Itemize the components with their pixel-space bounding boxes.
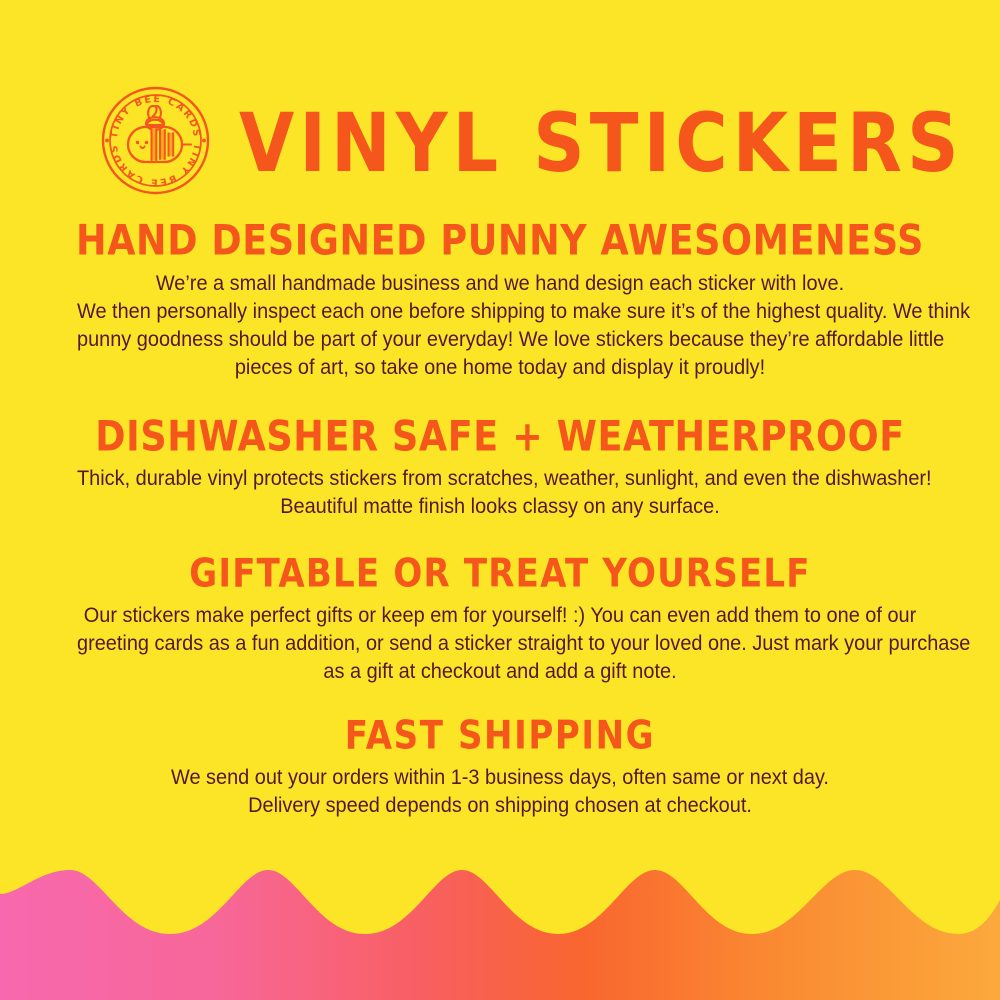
body-line: punny goodness should be part of your ev… bbox=[77, 326, 923, 354]
body-line: Thick, durable vinyl protects stickers f… bbox=[77, 465, 923, 493]
section-body: Thick, durable vinyl protects stickers f… bbox=[77, 465, 923, 521]
section-body: We’re a small handmade business and we h… bbox=[77, 270, 923, 382]
body-line: We send out your orders within 1-3 busin… bbox=[77, 764, 923, 792]
body-line: Delivery speed depends on shipping chose… bbox=[77, 792, 923, 820]
body-line: Beautiful matte finish looks classy on a… bbox=[77, 493, 923, 521]
sections-container: HAND DESIGNED PUNNY AWESOMENESS We’re a … bbox=[0, 222, 1000, 820]
section-body: We send out your orders within 1-3 busin… bbox=[77, 764, 923, 820]
sticker-info-graphic: TINY BEE CARDS TINY BEE CARDS bbox=[0, 0, 1000, 1000]
body-line: as a gift at checkout and add a gift not… bbox=[77, 658, 923, 686]
body-line: We then personally inspect each one befo… bbox=[77, 298, 923, 326]
section-heading: DISHWASHER SAFE + WEATHERPROOF bbox=[0, 415, 1000, 458]
bee-badge-icon: TINY BEE CARDS TINY BEE CARDS bbox=[95, 80, 216, 201]
section-dishwasher-safe: DISHWASHER SAFE + WEATHERPROOF Thick, du… bbox=[0, 418, 1000, 522]
section-body: Our stickers make perfect gifts or keep … bbox=[77, 602, 923, 686]
body-line: We’re a small handmade business and we h… bbox=[77, 270, 923, 298]
section-heading: HAND DESIGNED PUNNY AWESOMENESS bbox=[0, 219, 1000, 262]
body-line: Our stickers make perfect gifts or keep … bbox=[77, 602, 923, 630]
section-giftable: GIFTABLE OR TREAT YOURSELF Our stickers … bbox=[0, 557, 1000, 686]
section-heading: FAST SHIPPING bbox=[0, 717, 1000, 757]
wave-decoration bbox=[0, 852, 1000, 1000]
header: TINY BEE CARDS TINY BEE CARDS bbox=[0, 78, 1000, 203]
body-line: greeting cards as a fun addition, or sen… bbox=[77, 630, 923, 658]
section-heading: GIFTABLE OR TREAT YOURSELF bbox=[0, 555, 1000, 595]
body-line: pieces of art, so take one home today an… bbox=[77, 354, 923, 382]
page-title: VINYL STICKERS bbox=[239, 98, 964, 184]
section-fast-shipping: FAST SHIPPING We send out your orders wi… bbox=[0, 719, 1000, 820]
section-hand-designed: HAND DESIGNED PUNNY AWESOMENESS We’re a … bbox=[0, 222, 1000, 382]
